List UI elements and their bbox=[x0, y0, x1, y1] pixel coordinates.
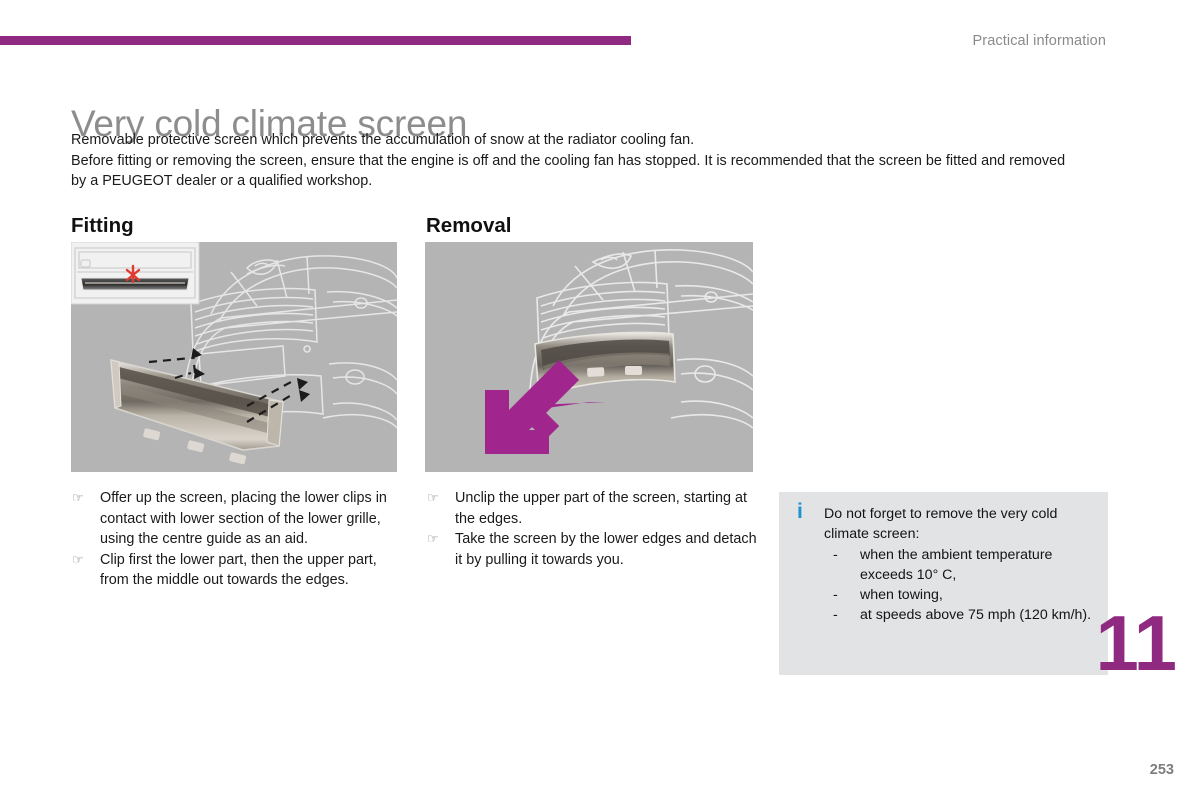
list-item: - when towing, bbox=[824, 585, 1094, 605]
fitting-diagram-svg bbox=[71, 242, 397, 472]
figure-fitting-illustration bbox=[71, 242, 397, 472]
figure-removal-illustration bbox=[425, 242, 753, 472]
page-header: Practical information bbox=[0, 0, 1200, 62]
heading-removal: Removal bbox=[426, 214, 511, 238]
list-item-text: Unclip the upper part of the screen, sta… bbox=[455, 488, 759, 529]
chapter-number: 11 bbox=[1096, 604, 1176, 682]
info-note-list: - when the ambient temperature exceeds 1… bbox=[824, 545, 1094, 626]
list-item-text: Take the screen by the lower edges and d… bbox=[455, 529, 759, 570]
dash-bullet: - bbox=[824, 545, 860, 565]
list-item-text: at speeds above 75 mph (120 km/h). bbox=[860, 605, 1094, 625]
list-item-text: when towing, bbox=[860, 585, 1094, 605]
pointing-hand-icon: ☞ bbox=[424, 488, 455, 509]
list-item: ☞ Offer up the screen, placing the lower… bbox=[69, 488, 399, 550]
list-item: - at speeds above 75 mph (120 km/h). bbox=[824, 605, 1094, 625]
intro-paragraph-1: Removable protective screen which preven… bbox=[71, 130, 1081, 151]
info-note-lead: Do not forget to remove the very cold cl… bbox=[824, 504, 1094, 545]
intro-text: Removable protective screen which preven… bbox=[71, 130, 1081, 192]
list-item-text: when the ambient temperature exceeds 10°… bbox=[860, 545, 1094, 586]
instructions-fitting: ☞ Offer up the screen, placing the lower… bbox=[69, 488, 399, 591]
header-accent-rule bbox=[0, 36, 631, 45]
removal-diagram-svg bbox=[425, 242, 753, 472]
dash-bullet: - bbox=[824, 585, 860, 605]
info-note-box: i Do not forget to remove the very cold … bbox=[779, 492, 1108, 675]
pointing-hand-icon: ☞ bbox=[69, 488, 100, 509]
list-item: ☞ Unclip the upper part of the screen, s… bbox=[424, 488, 759, 529]
page-number: 253 bbox=[1150, 762, 1174, 778]
list-item: ☞ Clip first the lower part, then the up… bbox=[69, 550, 399, 591]
information-i-icon: i bbox=[797, 501, 803, 522]
intro-paragraph-2: Before fitting or removing the screen, e… bbox=[71, 151, 1081, 192]
dash-bullet: - bbox=[824, 605, 860, 625]
pointing-hand-icon: ☞ bbox=[424, 529, 455, 550]
list-item: - when the ambient temperature exceeds 1… bbox=[824, 545, 1094, 586]
list-item-text: Clip first the lower part, then the uppe… bbox=[100, 550, 399, 591]
list-item: ☞ Take the screen by the lower edges and… bbox=[424, 529, 759, 570]
list-item-text: Offer up the screen, placing the lower c… bbox=[100, 488, 399, 550]
header-chapter-title: Practical information bbox=[973, 33, 1106, 49]
instructions-removal: ☞ Unclip the upper part of the screen, s… bbox=[424, 488, 759, 570]
heading-fitting: Fitting bbox=[71, 214, 134, 238]
pointing-hand-icon: ☞ bbox=[69, 550, 100, 571]
